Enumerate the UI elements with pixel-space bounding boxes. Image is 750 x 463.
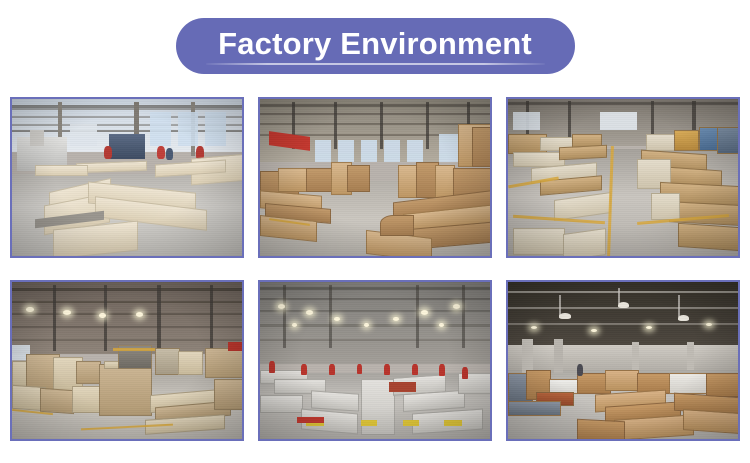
photo-6-scene	[508, 282, 738, 439]
factory-photo-6[interactable]	[506, 280, 740, 441]
page-title: Factory Environment	[218, 28, 532, 64]
factory-photo-5[interactable]	[258, 280, 492, 441]
photo-4-scene	[12, 282, 242, 439]
factory-photo-3[interactable]	[506, 97, 740, 258]
photo-3-scene	[508, 99, 738, 256]
photo-2-scene	[260, 99, 490, 256]
factory-photo-2[interactable]	[258, 97, 492, 258]
factory-photo-1[interactable]	[10, 97, 244, 258]
factory-photo-grid	[10, 97, 740, 441]
photo-5-scene	[260, 282, 490, 439]
factory-environment-page: Factory Environment	[0, 0, 750, 463]
section-banner: Factory Environment	[176, 18, 575, 74]
banner-container: Factory Environment	[0, 0, 750, 92]
title-underline-decoration	[206, 63, 545, 65]
factory-photo-4[interactable]	[10, 280, 244, 441]
photo-1-scene	[12, 99, 242, 256]
